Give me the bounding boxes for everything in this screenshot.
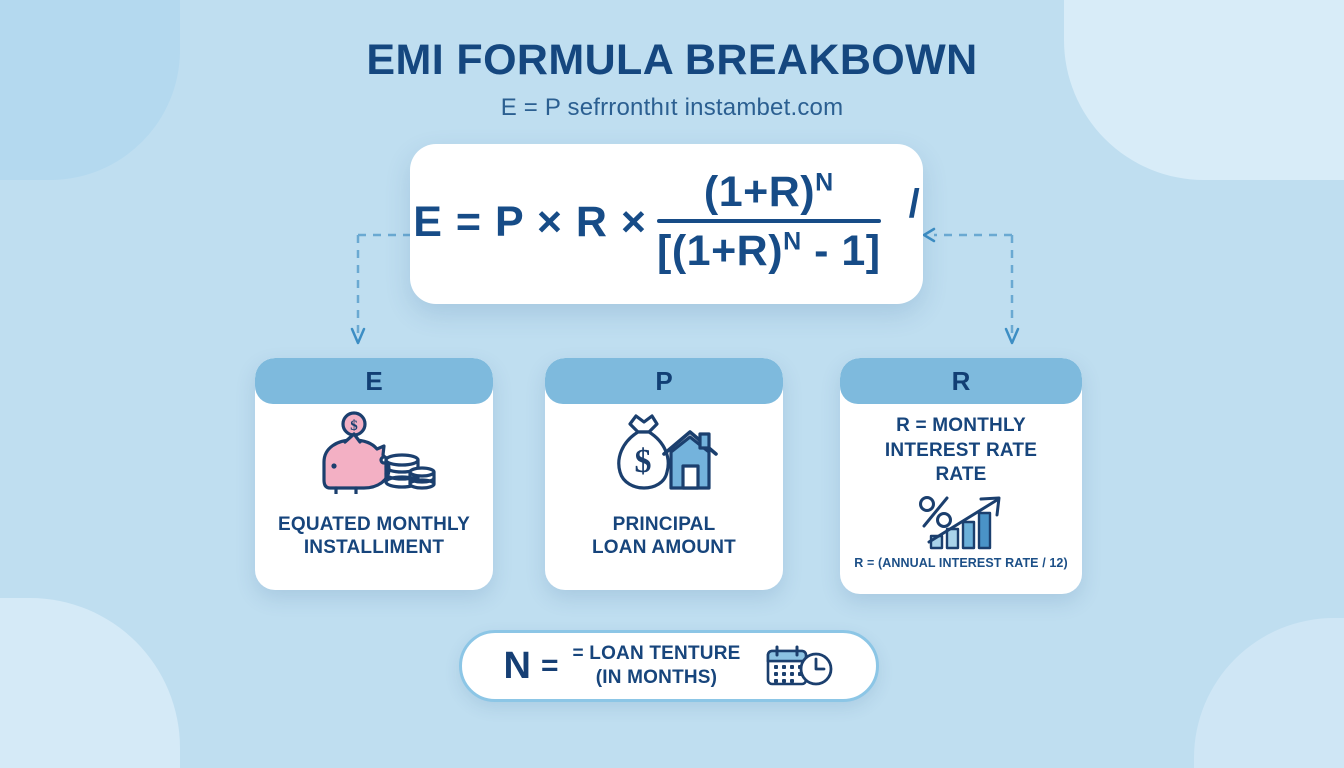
numerator-exponent: N xyxy=(815,169,834,197)
denominator-open: [(1+R) xyxy=(657,227,783,275)
calendar-clock-icon xyxy=(765,644,835,688)
formula-divider: / xyxy=(909,182,920,227)
card-emi-label: EQUATED MONTHLY INSTALLIMENT xyxy=(278,513,470,561)
page-title: EMI FORMULA BREAKBOWN xyxy=(0,38,1344,84)
card-principal-body: $ PRINCIPAL LOAN AMOUNT xyxy=(545,404,783,590)
formula-numerator: (1+R)N xyxy=(698,168,840,219)
connector-right xyxy=(920,225,1020,355)
denominator-close: - 1] xyxy=(802,227,881,275)
card-emi-label-line2: INSTALLIMENT xyxy=(278,536,470,560)
card-rate-caption: R = (ANNUAL INTEREST RATE / 12) xyxy=(854,556,1067,570)
formula-denominator: [(1+R)N - 1] xyxy=(657,223,881,276)
card-principal-label-line1: PRINCIPAL xyxy=(592,513,736,537)
svg-text:$: $ xyxy=(350,418,358,434)
piggy-bank-coins-icon: $ xyxy=(312,410,436,494)
background-blob-bottom-right xyxy=(1194,618,1344,768)
card-emi-body: $ xyxy=(255,404,493,590)
tenure-symbol: N xyxy=(504,645,531,688)
numerator-base: (1+R) xyxy=(704,168,815,216)
card-rate-title-line2: INTEREST RATE xyxy=(885,439,1037,464)
tenure-pill: N = = LOAN TENTURE (IN MONTHS) xyxy=(459,630,879,702)
money-bag-house-icon: $ xyxy=(608,410,720,494)
percent-growth-chart-icon xyxy=(913,494,1009,550)
svg-text:$: $ xyxy=(635,443,652,480)
tenure-equals: = xyxy=(541,649,559,683)
page-subtitle: E = P sefrronthıt instambet.com xyxy=(0,94,1344,122)
card-principal-label: PRINCIPAL LOAN AMOUNT xyxy=(592,513,736,561)
card-emi-label-line1: EQUATED MONTHLY xyxy=(278,513,470,537)
card-principal: P $ PRINCIPAL LOAN AMOUNT xyxy=(545,358,783,590)
card-rate-header: R xyxy=(840,358,1082,404)
formula-fraction: (1+R)N [(1+R)N - 1] xyxy=(657,168,881,276)
card-principal-header: P xyxy=(545,358,783,404)
card-emi: E $ xyxy=(255,358,493,590)
tenure-text-line2: (IN MONTHS) xyxy=(572,666,740,690)
card-rate-body: R = MONTHLY INTEREST RATE RATE xyxy=(840,404,1082,594)
formula-lead: E = P × R × xyxy=(413,198,647,247)
denominator-exponent: N xyxy=(783,228,802,256)
formula-card: E = P × R × (1+R)N [(1+R)N - 1] / xyxy=(410,144,923,304)
infographic-canvas: EMI FORMULA BREAKBOWN E = P sefrronthıt … xyxy=(0,0,1344,768)
header: EMI FORMULA BREAKBOWN E = P sefrronthıt … xyxy=(0,38,1344,122)
emi-formula: E = P × R × (1+R)N [(1+R)N - 1] / xyxy=(413,168,919,276)
card-rate-title-line1: R = MONTHLY xyxy=(885,414,1037,439)
tenure-text-line1: = LOAN TENTURE xyxy=(572,642,740,666)
card-rate-title: R = MONTHLY INTEREST RATE RATE xyxy=(885,414,1037,488)
card-principal-label-line2: LOAN AMOUNT xyxy=(592,536,736,560)
card-emi-header: E xyxy=(255,358,493,404)
card-rate: R R = MONTHLY INTEREST RATE RATE xyxy=(840,358,1082,594)
background-blob-bottom-left xyxy=(0,598,180,768)
card-rate-title-line3: RATE xyxy=(885,463,1037,488)
tenure-text: = LOAN TENTURE (IN MONTHS) xyxy=(572,642,740,690)
